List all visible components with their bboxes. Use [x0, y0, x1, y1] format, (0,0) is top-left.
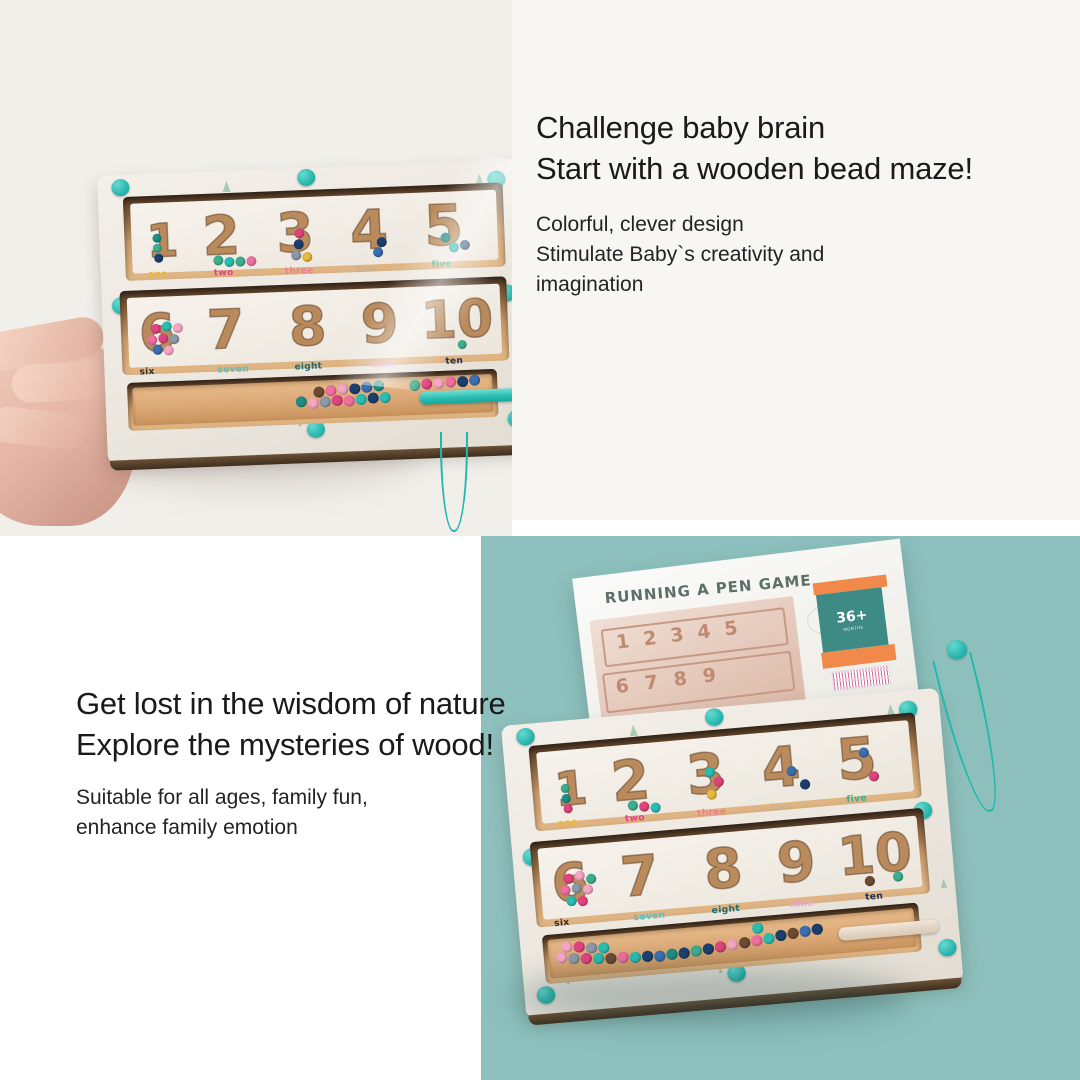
- package-barcode: [831, 665, 891, 692]
- word-label-two: two: [214, 268, 234, 279]
- tree-print-icon: [940, 879, 947, 889]
- word-label-five: five: [431, 259, 452, 270]
- peg-top-left: [111, 179, 130, 197]
- stylus-cord-loop-top: [440, 432, 468, 532]
- peg-top-center: [297, 169, 316, 187]
- word-label-nine: nine: [790, 898, 814, 910]
- word-label-two: two: [624, 813, 645, 825]
- word-label-five: five: [846, 793, 867, 805]
- digit-9: 9: [775, 834, 818, 892]
- peg-bottom-right: [937, 938, 957, 957]
- board-drop-shadow: [511, 966, 911, 1026]
- tree-print-icon: [222, 181, 230, 192]
- word-label-ten: ten: [445, 356, 463, 367]
- word-label-six: six: [554, 918, 570, 930]
- digit-7: 7: [618, 848, 661, 906]
- bottom-product-photo: RUNNING A PEN GAME 12345 6789 36+ MONTHS…: [481, 536, 1080, 1080]
- magnetic-stylus-pen[interactable]: [420, 388, 512, 405]
- digit-7: 7: [206, 302, 246, 357]
- top-panel: 1 2 3 4 5: [0, 0, 1080, 536]
- bottom-subcopy: Suitable for all ages, family fun, enhan…: [76, 783, 368, 843]
- word-label-seven: seven: [633, 910, 666, 923]
- digit-8: 8: [288, 299, 328, 354]
- board-body: 1 2 3 4 5: [97, 159, 512, 463]
- word-label-eight: eight: [294, 361, 322, 372]
- top-subcopy: Colorful, clever design Stimulate Baby`s…: [536, 210, 824, 300]
- word-label-six: six: [139, 367, 155, 378]
- top-headline: Challenge baby brain Start with a wooden…: [536, 107, 973, 189]
- tree-print-icon: [629, 724, 638, 736]
- product-marketing-page: 1 2 3 4 5: [0, 0, 1080, 1080]
- word-label-three: three: [285, 266, 314, 277]
- word-label-three: three: [697, 807, 727, 820]
- word-label-eight: eight: [711, 904, 740, 917]
- word-label-seven: seven: [217, 364, 249, 375]
- word-label-nine: nine: [371, 360, 395, 371]
- word-label-four: four: [357, 264, 380, 275]
- word-label-ten: ten: [865, 891, 884, 903]
- maze-board-top[interactable]: 1 2 3 4 5: [97, 159, 512, 463]
- age-badge-suffix: +: [855, 607, 869, 624]
- digit-5: 5: [834, 730, 879, 790]
- bottom-panel: RUNNING A PEN GAME 12345 6789 36+ MONTHS…: [0, 536, 1080, 1080]
- cord-anchor-peg: [947, 640, 967, 659]
- digit-10: 10: [420, 293, 494, 348]
- top-product-photo: 1 2 3 4 5: [0, 0, 512, 536]
- word-label-four: four: [770, 802, 793, 814]
- word-label-one: one: [557, 818, 578, 830]
- age-badge-number: 36: [835, 608, 856, 626]
- bottom-headline: Get lost in the wisdom of nature Explore…: [76, 683, 506, 765]
- peg-top-left: [516, 727, 536, 746]
- peg-top-center: [704, 708, 724, 727]
- digit-9: 9: [360, 297, 400, 352]
- digit-8: 8: [702, 840, 745, 898]
- word-label-one: one: [148, 269, 168, 280]
- age-badge: 36+ MONTHS: [816, 587, 889, 653]
- age-badge-caption: MONTHS: [843, 624, 863, 631]
